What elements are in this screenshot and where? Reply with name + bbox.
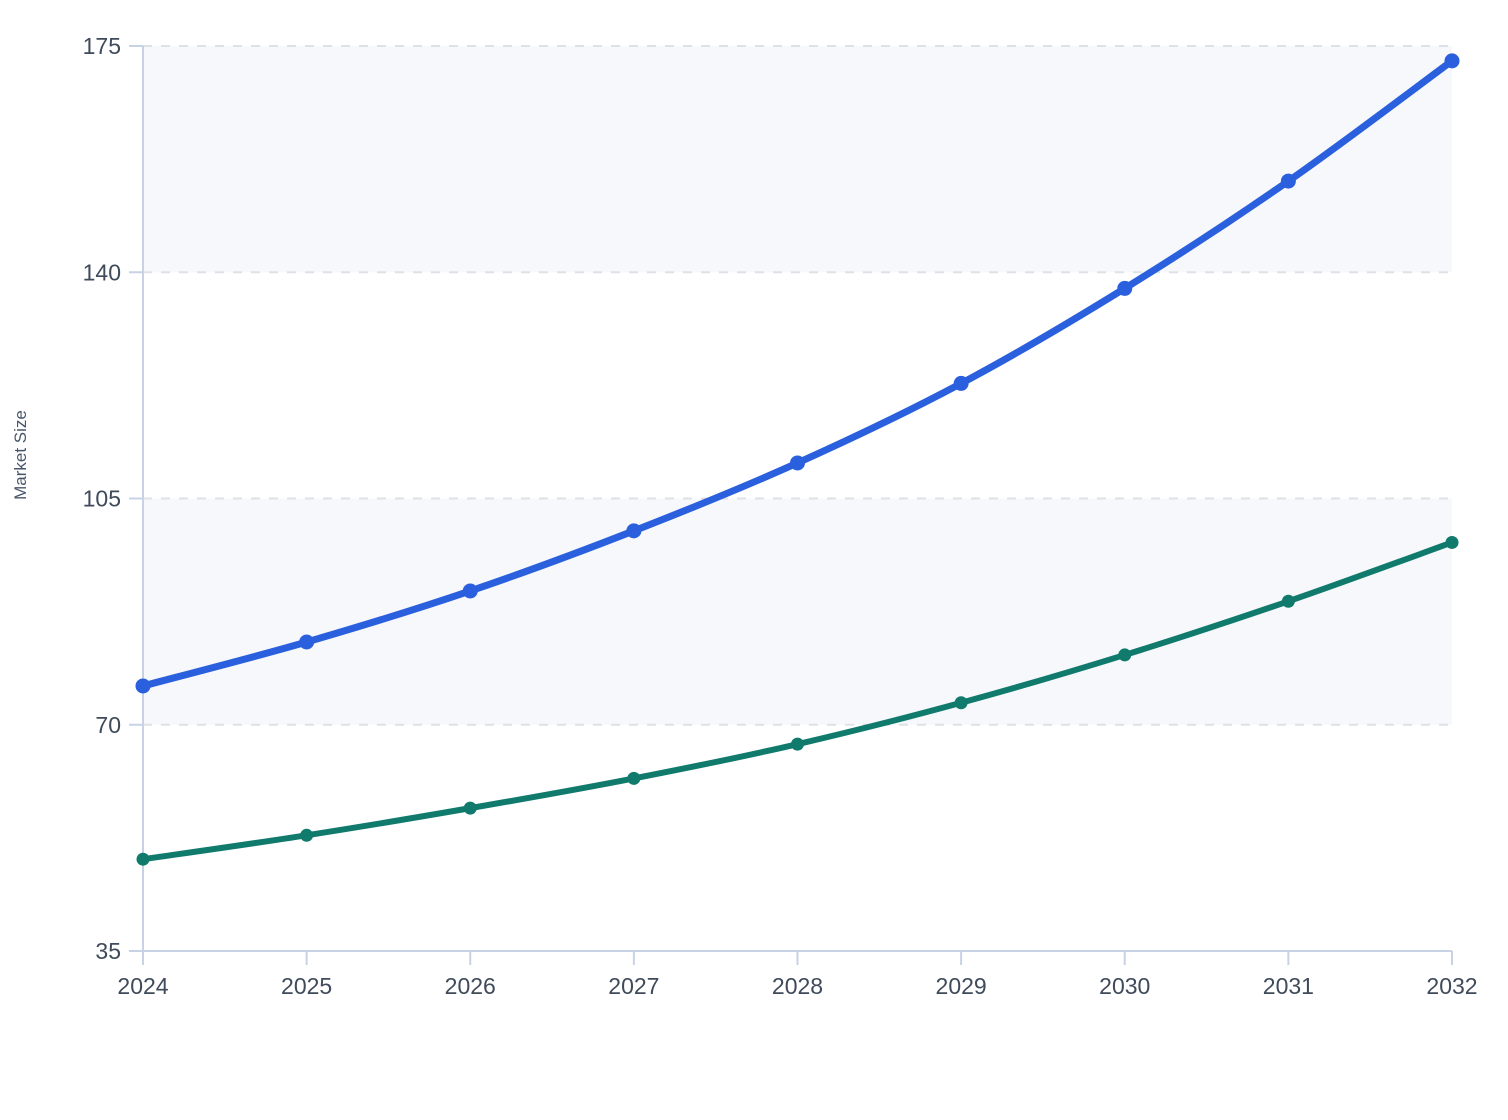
data-point-marker[interactable]: [791, 738, 804, 751]
chart-canvas: 1751401057035 20242025202620272028202920…: [0, 0, 1508, 1120]
data-point-marker[interactable]: [954, 376, 969, 391]
data-point-marker[interactable]: [627, 772, 640, 785]
data-point-marker[interactable]: [464, 802, 477, 815]
line-chart: 1751401057035 20242025202620272028202920…: [0, 0, 1508, 1120]
data-point-marker[interactable]: [463, 583, 478, 598]
data-point-marker[interactable]: [136, 678, 151, 693]
plot-bands: [143, 46, 1452, 725]
data-point-marker[interactable]: [137, 853, 150, 866]
x-tick-label: 2032: [1426, 973, 1477, 999]
y-tick-label: 35: [95, 938, 121, 964]
y-tick-labels: 1751401057035: [83, 33, 121, 964]
x-tick-label: 2031: [1263, 973, 1314, 999]
y-tick-label: 70: [95, 712, 121, 738]
data-point-marker[interactable]: [955, 696, 968, 709]
data-point-marker[interactable]: [1445, 53, 1460, 68]
x-tick-label: 2029: [936, 973, 987, 999]
data-point-marker[interactable]: [1281, 174, 1296, 189]
y-tick-label: 105: [83, 486, 121, 512]
data-point-marker[interactable]: [1117, 281, 1132, 296]
data-point-marker[interactable]: [626, 523, 641, 538]
data-point-marker[interactable]: [300, 829, 313, 842]
x-tick-label: 2024: [117, 973, 168, 999]
data-point-marker[interactable]: [1446, 536, 1459, 549]
data-point-marker[interactable]: [1282, 595, 1295, 608]
data-point-marker[interactable]: [1118, 648, 1131, 661]
data-point-marker[interactable]: [790, 455, 805, 470]
data-point-marker[interactable]: [299, 635, 314, 650]
x-tick-label: 2027: [608, 973, 659, 999]
x-tick-label: 2030: [1099, 973, 1150, 999]
x-tick-marks: [143, 951, 1452, 965]
y-tick-label: 175: [83, 33, 121, 59]
y-tick-marks: [129, 46, 143, 951]
x-tick-labels: 202420252026202720282029203020312032: [117, 973, 1477, 999]
y-axis-title-group: Market Size: [11, 410, 30, 500]
y-tick-label: 140: [83, 259, 121, 285]
x-tick-label: 2026: [445, 973, 496, 999]
plot-band: [143, 46, 1452, 272]
x-tick-label: 2028: [772, 973, 823, 999]
x-tick-label: 2025: [281, 973, 332, 999]
y-axis-title: Market Size: [11, 410, 30, 500]
